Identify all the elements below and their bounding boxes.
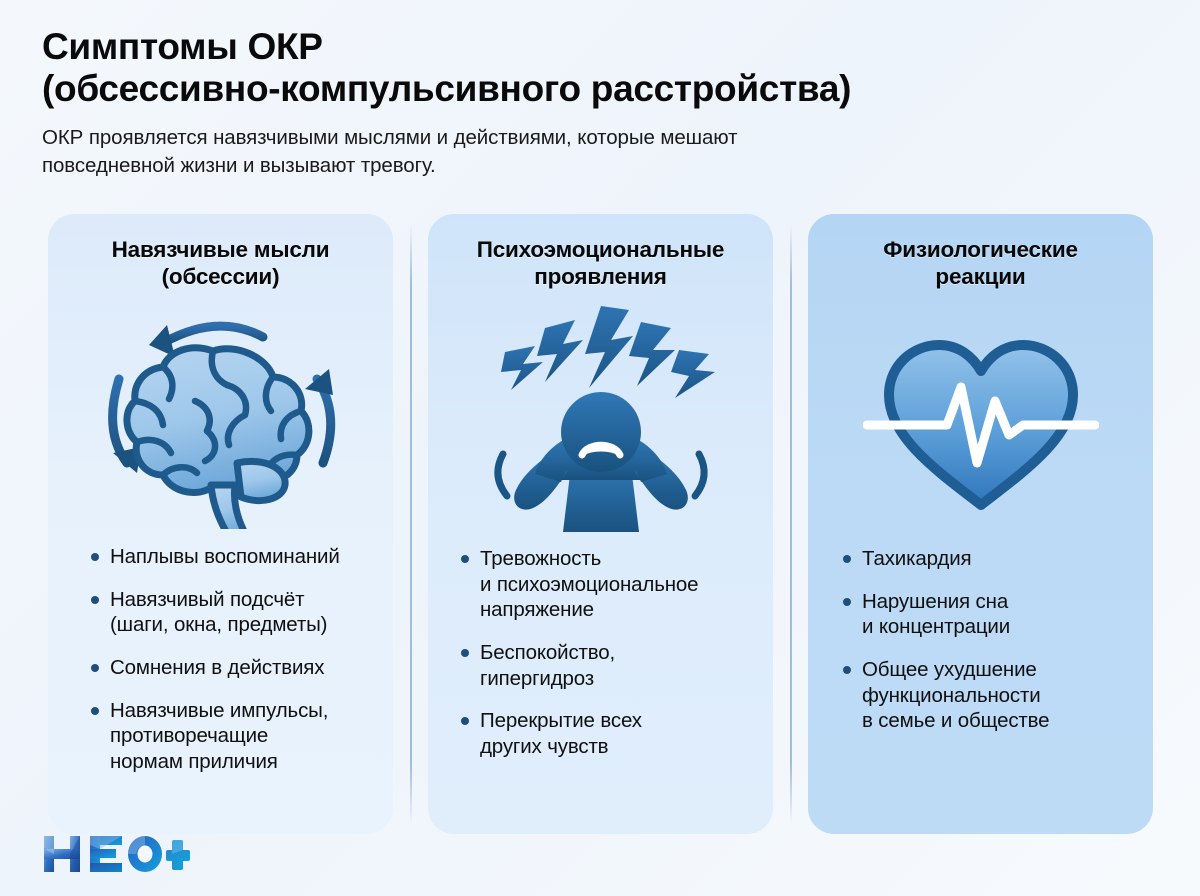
card-physiological-title: Физиологические реакции (883, 236, 1078, 290)
list-item: Навязчивый подсчёт (шаги, окна, предметы… (90, 587, 367, 638)
list-item: Общее ухудшение функциональности в семье… (842, 657, 1127, 734)
page-subtitle: ОКР проявляется навязчивыми мыслями и де… (42, 124, 1072, 179)
card-obsessions: Навязчивые мысли (обсессии) (48, 214, 393, 834)
card-divider-1 (393, 214, 428, 834)
card-psychoemotional-list: Тревожность и психоэмоциональное напряже… (446, 546, 755, 759)
card-physiological-list: Тахикардия Нарушения сна и концентрации … (826, 546, 1135, 734)
card-divider-2 (773, 214, 808, 834)
card-psychoemotional-title: Психоэмоциональные проявления (477, 236, 725, 290)
list-item: Тревожность и психоэмоциональное напряже… (460, 546, 747, 623)
page-header: Симптомы ОКР (обсессивно-компульсивного … (0, 0, 1200, 179)
page-title: Симптомы ОКР (обсессивно-компульсивного … (42, 26, 1158, 110)
list-item: Сомнения в действиях (90, 655, 367, 681)
list-item: Беспокойство, гипергидроз (460, 640, 747, 691)
card-psychoemotional: Психоэмоциональные проявления (428, 214, 773, 834)
card-physiological: Физиологические реакции Тахикардия Наруш (808, 214, 1153, 834)
list-item: Нарушения сна и концентрации (842, 589, 1127, 640)
list-item: Наплывы воспоминаний (90, 544, 367, 570)
symptom-cards-row: Навязчивые мысли (обсессии) (48, 214, 1160, 834)
heart-pulse-icon (863, 294, 1099, 544)
list-item: Навязчивые импульсы, противоречащие норм… (90, 698, 367, 775)
card-obsessions-title: Навязчивые мысли (обсессии) (112, 236, 330, 290)
list-item: Тахикардия (842, 546, 1127, 572)
stressed-person-icon (483, 294, 719, 544)
neo-plus-logo (42, 832, 192, 876)
brain-cycle-icon (105, 294, 337, 542)
card-obsessions-list: Наплывы воспоминаний Навязчивый подсчёт … (66, 544, 375, 774)
list-item: Перекрытие всех других чувств (460, 708, 747, 759)
